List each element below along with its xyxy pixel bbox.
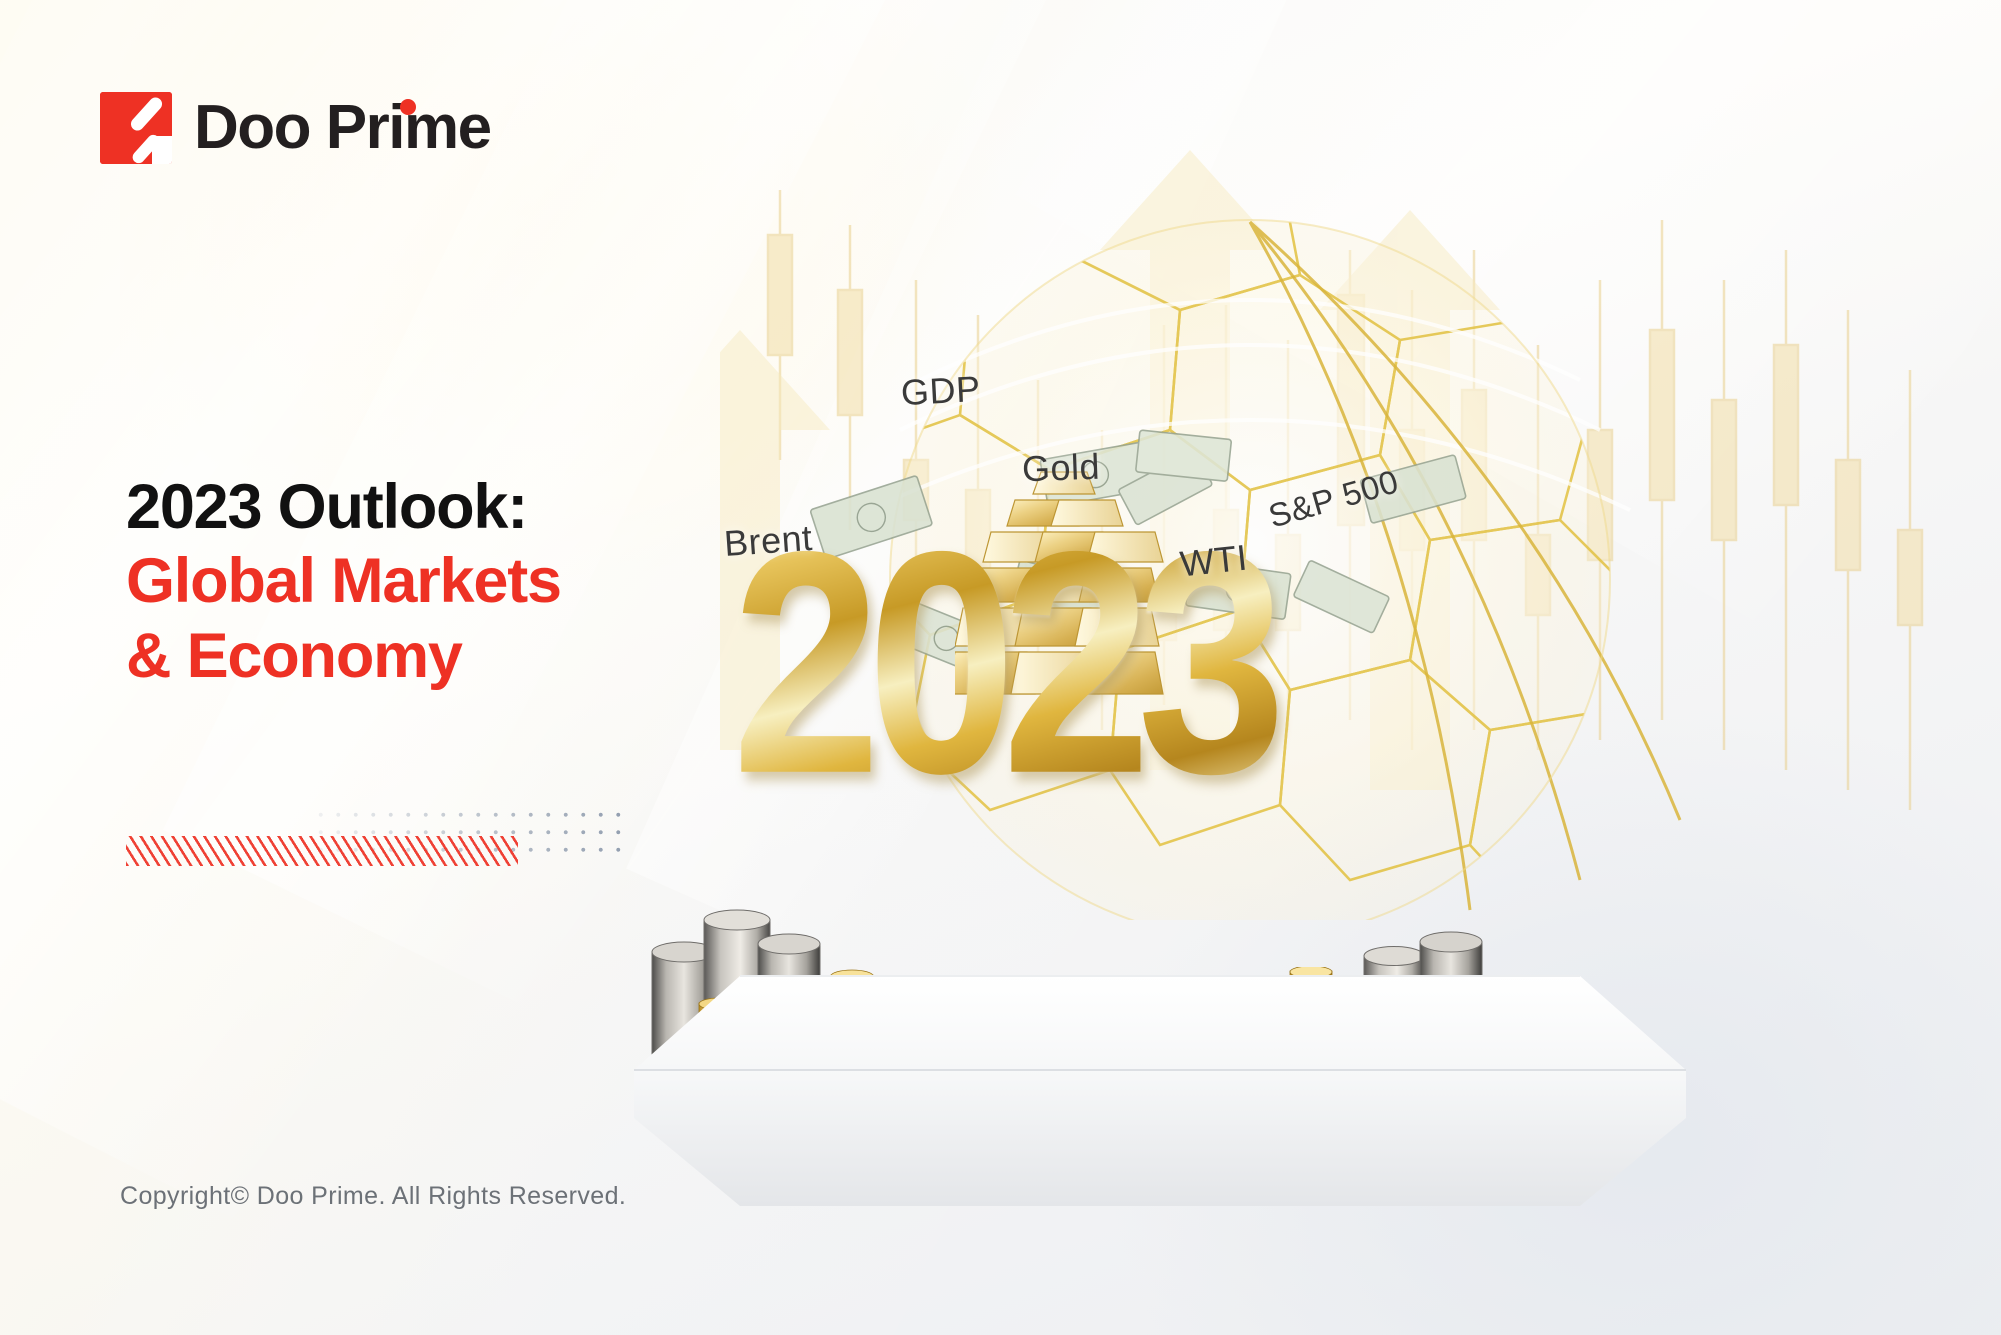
- headline-line-1: 2023 Outlook:: [126, 470, 561, 544]
- hero-illustration: 2023: [720, 130, 2001, 1260]
- hero-label-wti: WTI: [1178, 537, 1250, 586]
- hero-label-brent: Brent: [723, 517, 814, 565]
- headline-block: 2023 Outlook: Global Markets & Economy: [126, 470, 561, 693]
- headline-line-2: Global Markets: [126, 544, 561, 618]
- brand-logo[interactable]: Doo Prime: [100, 92, 491, 164]
- hexagon-podium-icon: [590, 960, 1730, 1220]
- year-2023-3d-text: 2023: [732, 504, 1392, 820]
- logo-accent-dot-icon: [400, 99, 416, 115]
- hero-label-gold: Gold: [1021, 446, 1100, 491]
- diagonal-hatch-pattern: [126, 836, 518, 866]
- brand-name-text: Doo Prime: [194, 93, 491, 162]
- hero-label-gdp: GDP: [900, 368, 982, 414]
- logo-mark-svg: [100, 92, 172, 164]
- decorative-divider: [126, 806, 626, 868]
- doo-prime-logo-mark-icon: [100, 92, 172, 164]
- brand-wordmark: Doo Prime: [194, 97, 491, 159]
- banner-canvas: Doo Prime 2023 Outlook: Global Markets &…: [0, 0, 2001, 1335]
- copyright-text: Copyright© Doo Prime. All Rights Reserve…: [120, 1182, 626, 1211]
- headline-line-3: & Economy: [126, 619, 561, 693]
